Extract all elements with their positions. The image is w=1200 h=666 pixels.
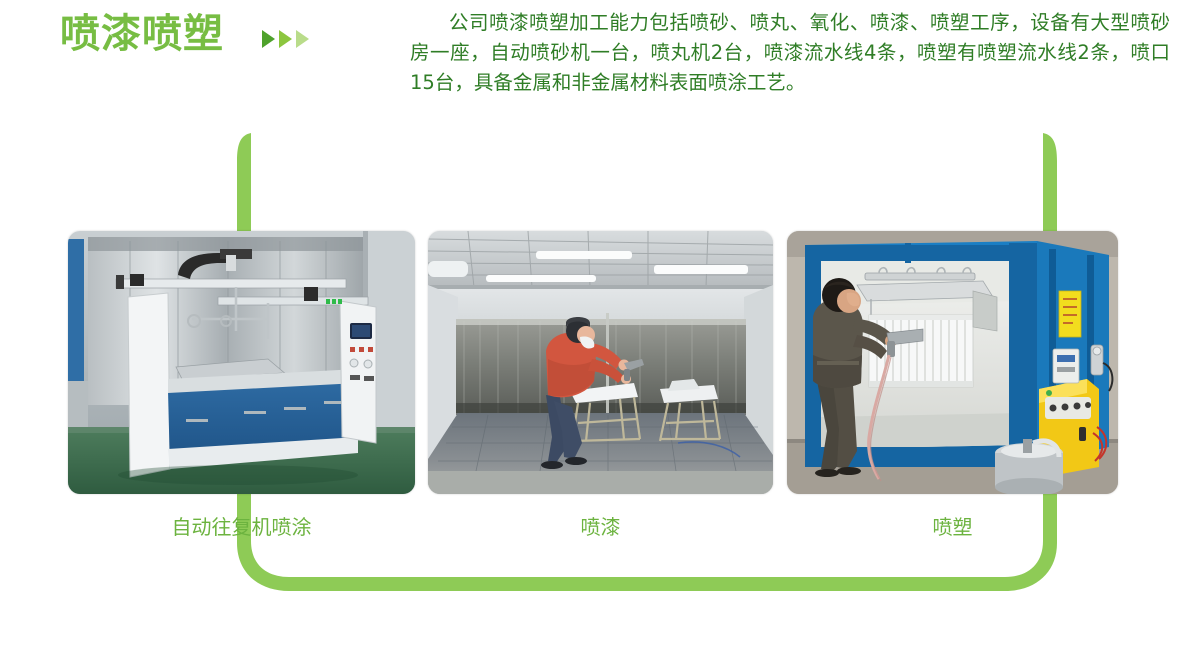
photo-powder-coating-booth[interactable] [787,231,1118,494]
arrow-decoration [262,30,309,48]
photo-caption-3: 喷塑 [787,511,1118,540]
photo-caption-2: 喷漆 [428,511,773,540]
spray-coating-section: 喷漆喷塑 公司喷漆喷塑加工能力包括喷砂、喷丸、氧化、喷漆、喷塑工序，设备有大型喷… [0,0,1200,666]
arrow-right-dark-icon [262,30,275,48]
photo-caption-1: 自动往复机喷涂 [68,511,415,540]
photo-gallery [0,231,1200,494]
intro-paragraph: 公司喷漆喷塑加工能力包括喷砂、喷丸、氧化、喷漆、喷塑工序，设备有大型喷砂房一座，… [410,8,1170,99]
photo-auto-reciprocating-sprayer[interactable] [68,231,415,494]
page-title: 喷漆喷塑 [60,10,224,58]
photo-paint-booth[interactable] [428,231,773,494]
arrow-right-light-icon [296,30,309,48]
arrow-right-mid-icon [279,30,292,48]
